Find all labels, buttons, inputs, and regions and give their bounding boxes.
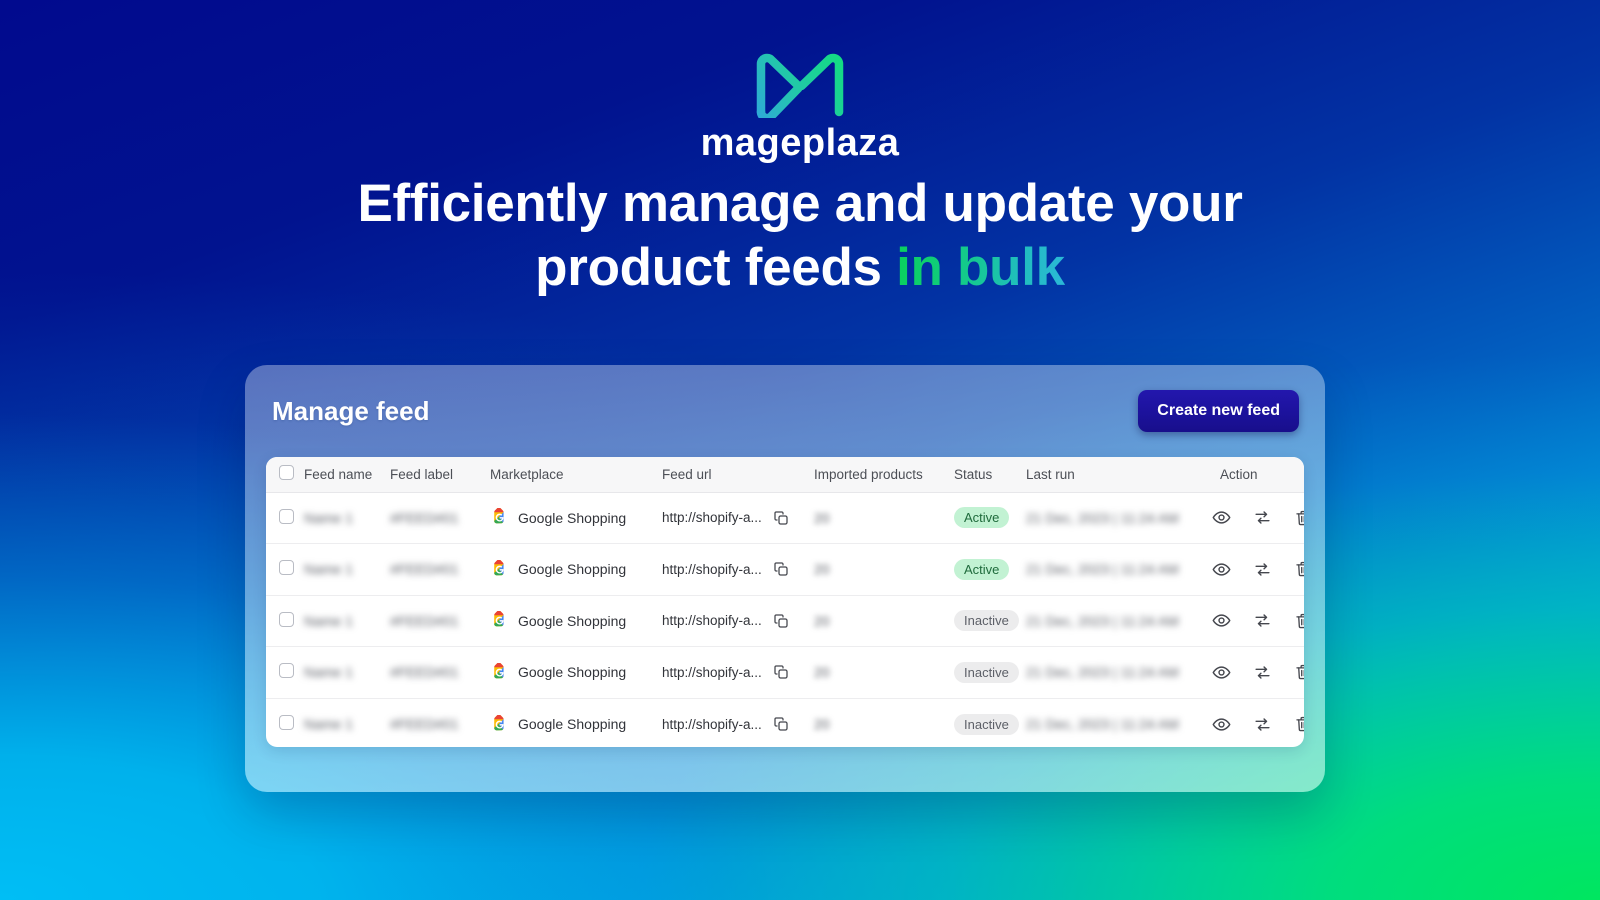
cell-marketplace: Google Shopping: [490, 492, 662, 544]
eye-icon[interactable]: [1212, 715, 1231, 734]
cell-feed-url: http://shopify-a...: [662, 647, 814, 699]
eye-icon[interactable]: [1212, 508, 1231, 527]
status-badge: Inactive: [954, 662, 1019, 683]
status-badge: Active: [954, 507, 1009, 528]
sync-icon[interactable]: [1253, 611, 1272, 630]
last-run-value: 21 Dec, 2023 | 11:24 AM: [1026, 613, 1179, 629]
row-select-cell: [266, 595, 304, 647]
cell-imported-products: 20: [814, 698, 954, 747]
cell-feed-name: Name 1: [304, 595, 390, 647]
row-select-cell: [266, 544, 304, 596]
cell-imported-products: 20: [814, 647, 954, 699]
last-run-value: 21 Dec, 2023 | 11:24 AM: [1026, 561, 1179, 577]
table-header-row: Feed name Feed label Marketplace Feed ur…: [266, 457, 1304, 492]
table-body: Name 1 #FEED#01 Goo: [266, 492, 1304, 747]
feed-label-value: #FEED#01: [390, 716, 458, 732]
eye-icon[interactable]: [1212, 663, 1231, 682]
row-select-cell: [266, 698, 304, 747]
cell-feed-label: #FEED#01: [390, 647, 490, 699]
brand-logo: mageplaza: [0, 52, 1600, 162]
cell-last-run: 21 Dec, 2023 | 11:24 AM: [1026, 698, 1206, 747]
cell-action: [1206, 492, 1304, 544]
sync-icon[interactable]: [1253, 663, 1272, 682]
cell-feed-label: #FEED#01: [390, 492, 490, 544]
feeds-table: Feed name Feed label Marketplace Feed ur…: [266, 457, 1304, 747]
cell-feed-name: Name 1: [304, 492, 390, 544]
feed-url-value: http://shopify-a...: [662, 510, 762, 525]
trash-icon[interactable]: [1294, 612, 1304, 630]
cell-feed-url: http://shopify-a...: [662, 698, 814, 747]
cell-last-run: 21 Dec, 2023 | 11:24 AM: [1026, 595, 1206, 647]
cell-feed-url: http://shopify-a...: [662, 595, 814, 647]
table-row[interactable]: Name 1 #FEED#01 Goo: [266, 492, 1304, 544]
google-shopping-icon: [490, 508, 509, 527]
sync-icon[interactable]: [1253, 508, 1272, 527]
copy-icon[interactable]: [773, 561, 789, 577]
copy-icon[interactable]: [773, 613, 789, 629]
sync-icon[interactable]: [1253, 560, 1272, 579]
cell-imported-products: 20: [814, 595, 954, 647]
imported-products-value: 20: [814, 716, 830, 732]
trash-icon[interactable]: [1294, 560, 1304, 578]
feed-label-value: #FEED#01: [390, 664, 458, 680]
marketplace-value: Google Shopping: [518, 664, 626, 680]
last-run-value: 21 Dec, 2023 | 11:24 AM: [1026, 716, 1179, 732]
row-select-cell: [266, 647, 304, 699]
cell-action: [1206, 698, 1304, 747]
marketplace-value: Google Shopping: [518, 613, 626, 629]
imported-products-value: 20: [814, 613, 830, 629]
manage-feed-panel: Manage feed Create new feed Feed name Fe…: [245, 365, 1325, 792]
marketplace-value: Google Shopping: [518, 510, 626, 526]
imported-products-value: 20: [814, 664, 830, 680]
cell-marketplace: Google Shopping: [490, 698, 662, 747]
feed-label-value: #FEED#01: [390, 613, 458, 629]
cell-feed-name: Name 1: [304, 698, 390, 747]
cell-status: Active: [954, 492, 1026, 544]
google-shopping-icon: [490, 611, 509, 630]
cell-status: Inactive: [954, 698, 1026, 747]
cell-feed-label: #FEED#01: [390, 544, 490, 596]
select-all-header: [266, 457, 304, 492]
table-row[interactable]: Name 1 #FEED#01 Goo: [266, 544, 1304, 596]
column-header-feed-label[interactable]: Feed label: [390, 457, 490, 492]
feed-label-value: #FEED#01: [390, 510, 458, 526]
google-shopping-icon: [490, 560, 509, 579]
feed-url-value: http://shopify-a...: [662, 665, 762, 680]
select-all-checkbox[interactable]: [279, 465, 294, 480]
feed-label-value: #FEED#01: [390, 561, 458, 577]
trash-icon[interactable]: [1294, 715, 1304, 733]
headline-line-1: Efficiently manage and update your: [357, 174, 1242, 233]
cell-feed-name: Name 1: [304, 647, 390, 699]
create-new-feed-button[interactable]: Create new feed: [1138, 390, 1299, 432]
cell-marketplace: Google Shopping: [490, 595, 662, 647]
cell-imported-products: 20: [814, 492, 954, 544]
status-badge: Inactive: [954, 610, 1019, 631]
table-header: Feed name Feed label Marketplace Feed ur…: [266, 457, 1304, 492]
cell-last-run: 21 Dec, 2023 | 11:24 AM: [1026, 492, 1206, 544]
trash-icon[interactable]: [1294, 509, 1304, 527]
sync-icon[interactable]: [1253, 715, 1272, 734]
feeds-table-card: Feed name Feed label Marketplace Feed ur…: [266, 457, 1304, 747]
feed-url-value: http://shopify-a...: [662, 717, 762, 732]
page-title: Efficiently manage and update your produ…: [250, 172, 1350, 299]
imported-products-value: 20: [814, 561, 830, 577]
brand-wordmark: mageplaza: [701, 124, 900, 162]
last-run-value: 21 Dec, 2023 | 11:24 AM: [1026, 510, 1179, 526]
cell-imported-products: 20: [814, 544, 954, 596]
row-checkbox[interactable]: [279, 509, 294, 524]
cell-feed-name: Name 1: [304, 544, 390, 596]
panel-header: Manage feed Create new feed: [245, 365, 1325, 457]
cell-status: Inactive: [954, 647, 1026, 699]
copy-icon[interactable]: [773, 510, 789, 526]
row-select-cell: [266, 492, 304, 544]
copy-icon[interactable]: [773, 664, 789, 680]
imported-products-value: 20: [814, 510, 830, 526]
google-shopping-icon: [490, 715, 509, 734]
eye-icon[interactable]: [1212, 560, 1231, 579]
cell-feed-url: http://shopify-a...: [662, 492, 814, 544]
cell-action: [1206, 595, 1304, 647]
trash-icon[interactable]: [1294, 663, 1304, 681]
table-row[interactable]: Name 1 #FEED#01 Goo: [266, 698, 1304, 747]
row-checkbox[interactable]: [279, 715, 294, 730]
marketplace-value: Google Shopping: [518, 561, 626, 577]
feed-url-value: http://shopify-a...: [662, 562, 762, 577]
row-checkbox[interactable]: [279, 560, 294, 575]
table-row[interactable]: Name 1 #FEED#01 Goo: [266, 595, 1304, 647]
last-run-value: 21 Dec, 2023 | 11:24 AM: [1026, 664, 1179, 680]
feed-name-value: Name 1: [304, 510, 353, 526]
feed-name-value: Name 1: [304, 716, 353, 732]
google-shopping-icon: [490, 663, 509, 682]
hero-banner: mageplaza Efficiently manage and update …: [0, 0, 1600, 900]
row-checkbox[interactable]: [279, 663, 294, 678]
cell-marketplace: Google Shopping: [490, 647, 662, 699]
feed-name-value: Name 1: [304, 561, 353, 577]
cell-action: [1206, 647, 1304, 699]
cell-last-run: 21 Dec, 2023 | 11:24 AM: [1026, 544, 1206, 596]
feed-name-value: Name 1: [304, 613, 353, 629]
cell-feed-url: http://shopify-a...: [662, 544, 814, 596]
column-header-marketplace[interactable]: Marketplace: [490, 457, 662, 492]
copy-icon[interactable]: [773, 716, 789, 732]
column-header-last-run[interactable]: Last run: [1026, 457, 1206, 492]
headline-line-2: product feeds: [535, 238, 896, 297]
cell-status: Inactive: [954, 595, 1026, 647]
column-header-status[interactable]: Status: [954, 457, 1026, 492]
marketplace-value: Google Shopping: [518, 716, 626, 732]
cell-marketplace: Google Shopping: [490, 544, 662, 596]
cell-feed-label: #FEED#01: [390, 595, 490, 647]
mageplaza-m-logo-icon: [752, 52, 848, 118]
table-row[interactable]: Name 1 #FEED#01 Goo: [266, 647, 1304, 699]
eye-icon[interactable]: [1212, 611, 1231, 630]
row-checkbox[interactable]: [279, 612, 294, 627]
cell-last-run: 21 Dec, 2023 | 11:24 AM: [1026, 647, 1206, 699]
cell-feed-label: #FEED#01: [390, 698, 490, 747]
panel-title: Manage feed: [272, 396, 430, 427]
feed-url-value: http://shopify-a...: [662, 613, 762, 628]
cell-status: Active: [954, 544, 1026, 596]
column-header-action: Action: [1206, 457, 1304, 492]
headline-accent: in bulk: [896, 238, 1065, 297]
column-header-feed-name[interactable]: Feed name: [304, 457, 390, 492]
cell-action: [1206, 544, 1304, 596]
status-badge: Inactive: [954, 714, 1019, 735]
status-badge: Active: [954, 559, 1009, 580]
feed-name-value: Name 1: [304, 664, 353, 680]
column-header-feed-url[interactable]: Feed url: [662, 457, 814, 492]
column-header-imported-products[interactable]: Imported products: [814, 457, 954, 492]
